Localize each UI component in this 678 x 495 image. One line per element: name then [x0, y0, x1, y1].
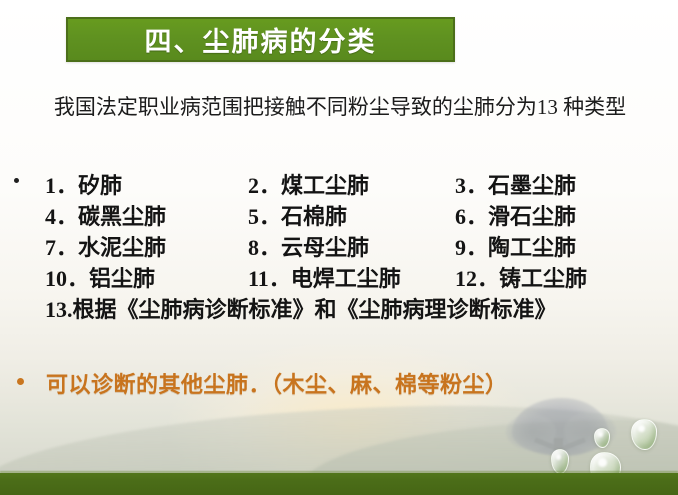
classification-list: 1．矽肺 2．煤工尘肺 3．石墨尘肺 4．碳黑尘肺 5．石棉肺 6．滑石尘肺 7… — [0, 168, 678, 323]
list-cell: 11．电焊工尘肺 — [248, 261, 401, 293]
list-cell: 5．石棉肺 — [248, 199, 347, 231]
page-title: 四、尘肺病的分类 — [145, 20, 377, 59]
list-item: 7．水泥尘肺 8．云母尘肺 9．陶工尘肺 — [0, 230, 678, 261]
title-banner: 四、尘肺病的分类 — [66, 17, 455, 62]
slide-canvas: 四、尘肺病的分类 我国法定职业病范围把接触不同粉尘导致的尘肺分为13 种类型 1… — [0, 0, 678, 495]
list-item: 10．铝尘肺 11．电焊工尘肺 12．铸工尘肺 — [0, 261, 678, 292]
list-cell-full: 13.根据《尘肺病诊断标准》和《尘肺病理诊断标准》 — [45, 292, 557, 324]
list-cell: 10．铝尘肺 — [45, 261, 155, 293]
list-cell: 4．碳黑尘肺 — [45, 199, 166, 231]
list-cell: 2．煤工尘肺 — [248, 168, 369, 200]
list-cell: 12．铸工尘肺 — [455, 261, 587, 293]
bullet-icon — [17, 378, 24, 385]
list-item: 4．碳黑尘肺 5．石棉肺 6．滑石尘肺 — [0, 199, 678, 230]
list-item: 1．矽肺 2．煤工尘肺 3．石墨尘肺 — [0, 168, 678, 199]
footer-note: 可以诊断的其他尘肺．（木尘、麻、棉等粉尘） — [0, 367, 678, 397]
list-cell: 7．水泥尘肺 — [45, 230, 166, 262]
footer-note-text: 可以诊断的其他尘肺．（木尘、麻、棉等粉尘） — [46, 367, 508, 399]
grass-strip — [0, 473, 678, 495]
list-item: 13.根据《尘肺病诊断标准》和《尘肺病理诊断标准》 — [0, 292, 678, 323]
list-cell: 1．矽肺 — [45, 168, 122, 200]
list-cell: 3．石墨尘肺 — [455, 168, 576, 200]
list-cell: 9．陶工尘肺 — [455, 230, 576, 262]
intro-paragraph: 我国法定职业病范围把接触不同粉尘导致的尘肺分为13 种类型 — [44, 92, 636, 122]
list-cell: 6．滑石尘肺 — [455, 199, 576, 231]
water-droplet-icon — [631, 419, 657, 450]
bullet-icon — [14, 178, 19, 183]
list-cell: 8．云母尘肺 — [248, 230, 369, 262]
